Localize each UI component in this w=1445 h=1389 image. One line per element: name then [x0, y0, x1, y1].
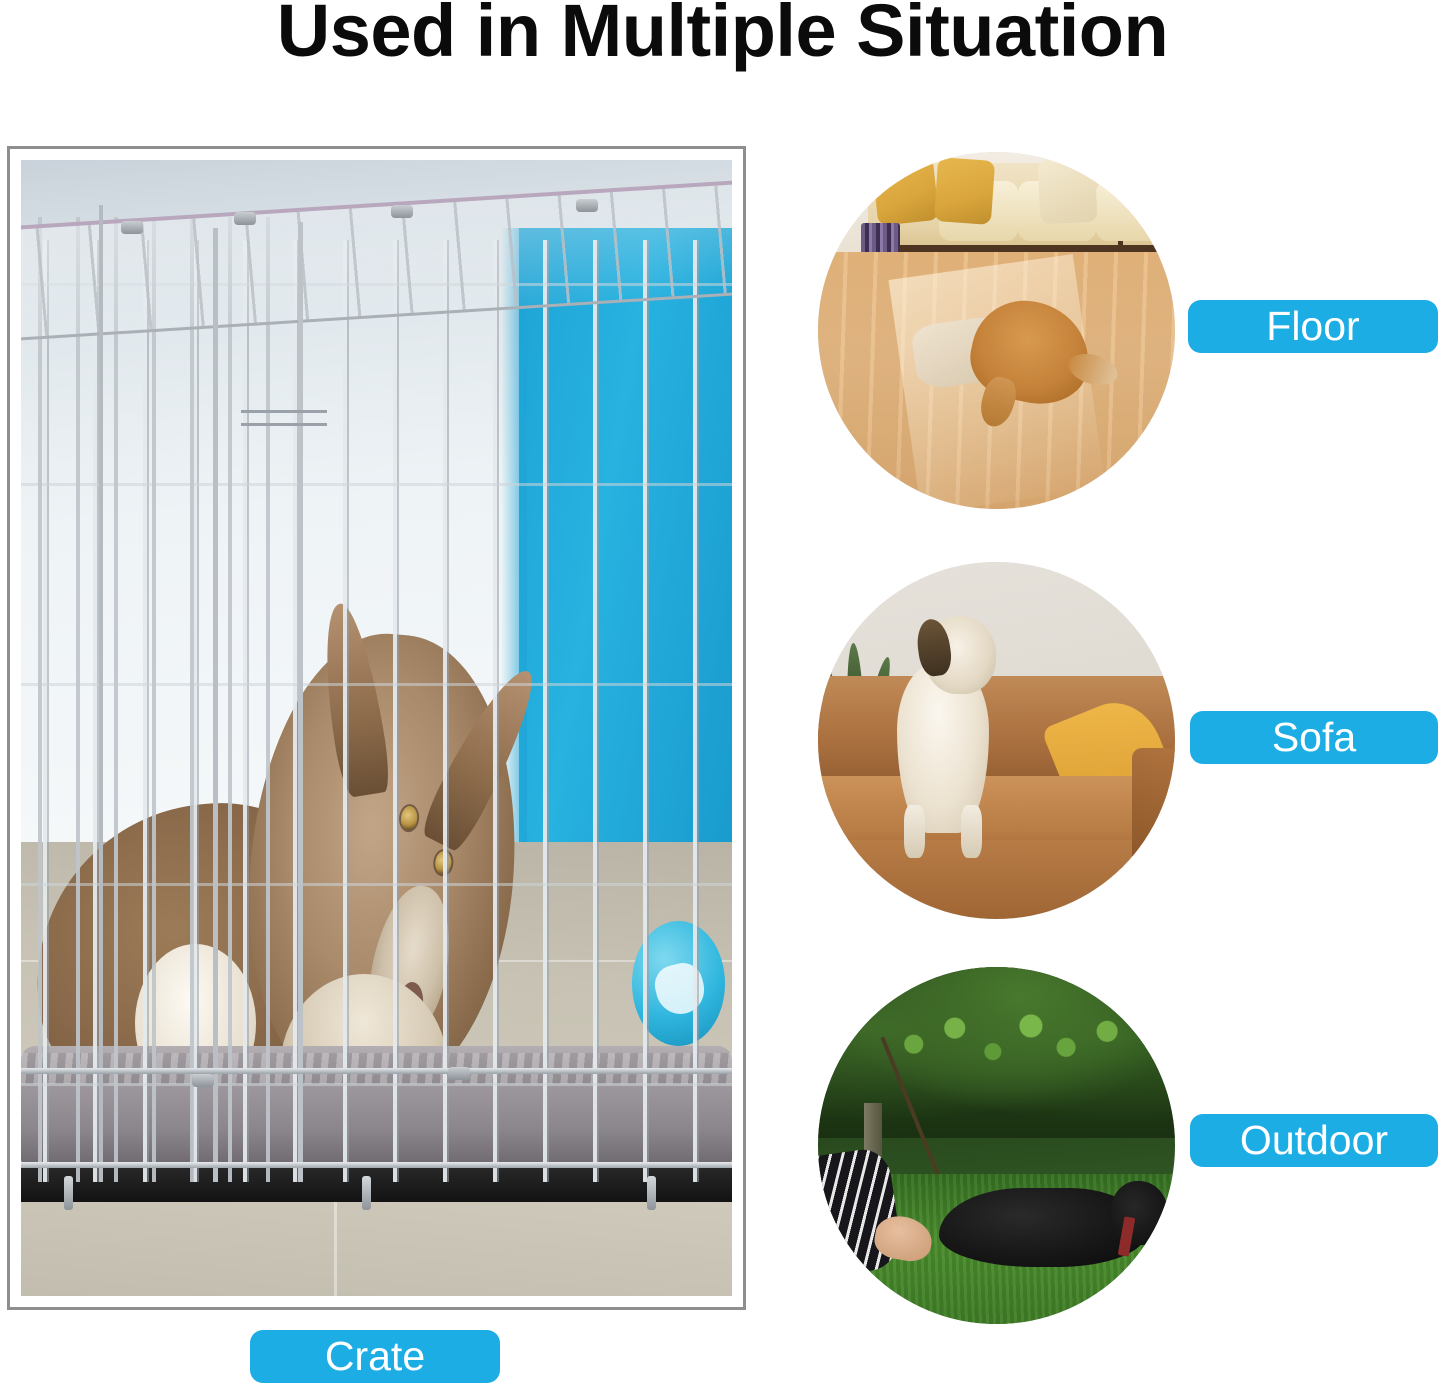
outdoor-dog-head — [1111, 1181, 1168, 1245]
sofa-armrest — [1132, 748, 1175, 869]
sofa-seat-front — [818, 840, 1175, 919]
floor-scene-image — [818, 152, 1175, 509]
sofa-dog-leg-left — [904, 805, 925, 859]
outdoor-scene-image — [818, 967, 1175, 1324]
badge-crate[interactable]: Crate — [250, 1330, 500, 1383]
floor-pillow-2 — [934, 157, 995, 225]
floor-sofa-cushion-3 — [1096, 181, 1175, 242]
badge-floor[interactable]: Floor — [1188, 300, 1438, 353]
badge-outdoor[interactable]: Outdoor — [1190, 1114, 1438, 1167]
sofa-scene-image — [818, 562, 1175, 919]
sofa-dog-leg-right — [961, 805, 982, 859]
dog-eye-left — [400, 806, 418, 831]
floor-pillow-3 — [1038, 158, 1098, 225]
bed-black-base — [21, 1163, 732, 1202]
dog-eye-right — [435, 851, 453, 876]
badge-sofa[interactable]: Sofa — [1190, 711, 1438, 764]
grey-plush-dog-bed — [21, 1046, 732, 1165]
crate-photo-frame — [7, 146, 746, 1310]
blue-ball-toy — [632, 921, 724, 1046]
crate-blue-backdrop — [519, 228, 732, 932]
crate-scene-image — [21, 160, 732, 1296]
dog-ear-left — [314, 601, 394, 800]
page-title: Used in Multiple Situation — [0, 0, 1445, 68]
dog-ear-right — [417, 660, 549, 855]
crate-dog — [64, 614, 533, 1114]
floor-pillow-1 — [872, 156, 939, 226]
